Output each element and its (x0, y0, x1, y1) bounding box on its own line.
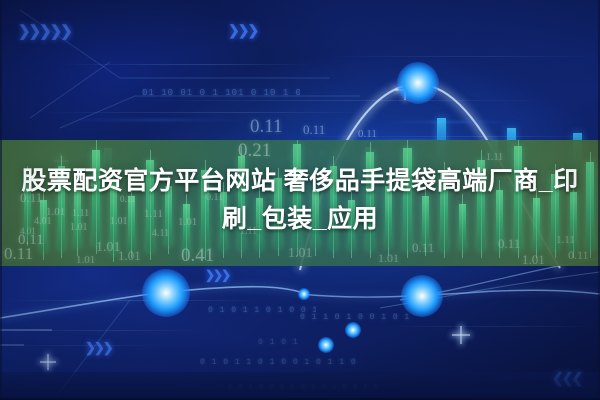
vignette-overlay (0, 0, 600, 400)
left-border (0, 0, 2, 400)
banner-image: 01 10 01 0 1 101 0 10 1 01 1 0 101 01 0 … (0, 0, 600, 400)
bottom-strip (0, 372, 600, 400)
